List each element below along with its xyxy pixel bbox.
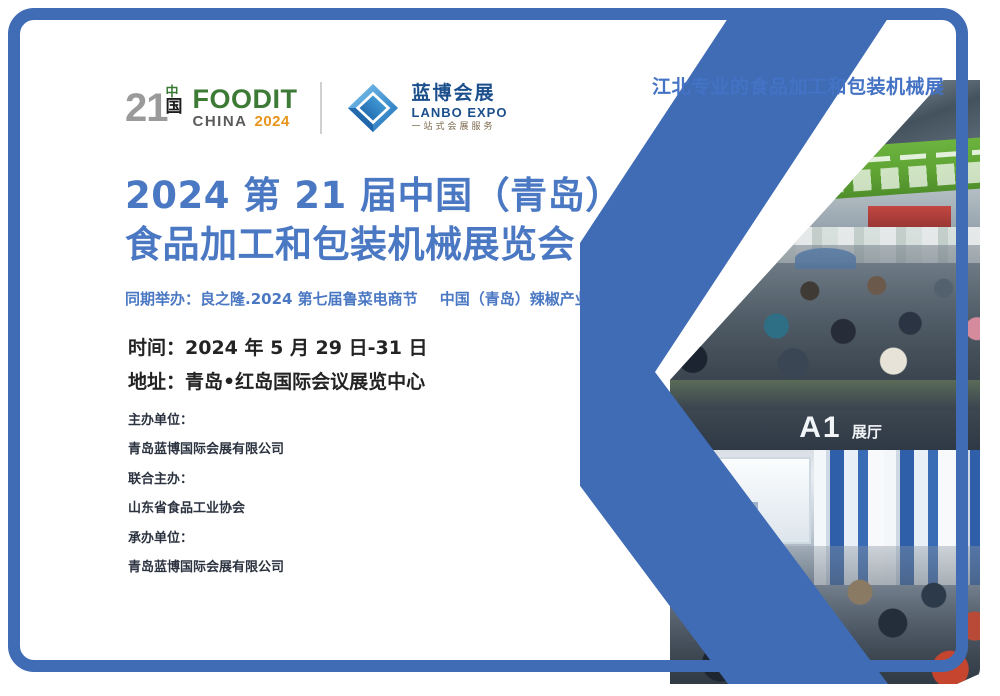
lanbo-wordmark: 蓝博会展 LANBO EXPO 一站式会展服务 — [412, 84, 508, 132]
foodit-edition-number: 21 — [125, 88, 168, 128]
lanbo-cn-name: 蓝博会展 — [412, 84, 508, 103]
artwork-panel: A1 展厅 — [580, 20, 980, 684]
foodit-china-glyph: 中 国 — [166, 88, 186, 128]
exhibition-poster: A1 展厅 21 中 — [0, 0, 1000, 696]
chevron-arrow-graphic — [580, 20, 980, 684]
logo-lanbo-expo: 蓝博会展 LANBO EXPO 一站式会展服务 — [344, 82, 508, 134]
lanbo-en-name: LANBO EXPO — [412, 106, 508, 119]
content-panel: 21 中 国 FOODIT CHINA 2024 — [20, 20, 640, 684]
lanbo-diamond-icon — [344, 82, 402, 134]
foodit-country: CHINA — [193, 114, 248, 129]
foodit-year: 2024 — [255, 114, 290, 129]
foodit-wordmark: FOODIT CHINA 2024 — [193, 87, 298, 130]
poster-inner: A1 展厅 21 中 — [20, 20, 980, 684]
foodit-main-text: FOODIT — [193, 87, 298, 113]
logo-row: 21 中 国 FOODIT CHINA 2024 — [125, 82, 507, 134]
foodit-sub-row: CHINA 2024 — [193, 114, 298, 129]
poster-tagline: 江北专业的食品加工和包装机械展 — [652, 78, 945, 97]
logo-divider — [320, 82, 322, 134]
lanbo-slogan: 一站式会展服务 — [412, 123, 508, 132]
foodit-glyph-bottom: 国 — [166, 99, 183, 116]
logo-foodit-china: 21 中 国 FOODIT CHINA 2024 — [125, 87, 298, 130]
